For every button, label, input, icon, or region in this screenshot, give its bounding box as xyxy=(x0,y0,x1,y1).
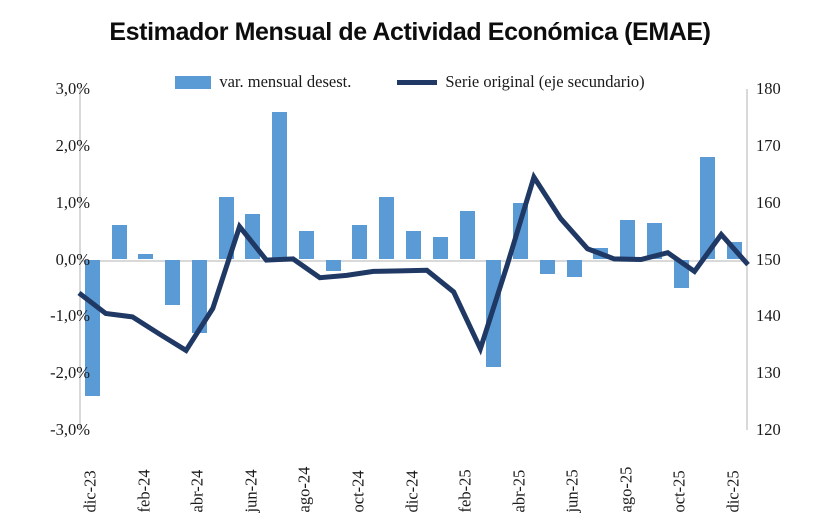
emae-chart: Estimador Mensual de Actividad Económica… xyxy=(0,0,820,524)
x-tick-ago-24: ago-24 xyxy=(297,466,314,512)
x-tick-feb-24: feb-24 xyxy=(136,469,153,512)
secondary-tick-0: 180 xyxy=(756,81,816,98)
x-tick-abr-24: abr-24 xyxy=(190,469,207,512)
primary-tick-4: -1,0% xyxy=(20,308,90,325)
line-swatch-icon xyxy=(397,80,437,85)
line-series-serie-original xyxy=(79,89,748,430)
x-tick-dic-25: dic-25 xyxy=(725,470,742,512)
primary-tick-6: -3,0% xyxy=(20,422,90,439)
secondary-tick-6: 120 xyxy=(756,422,816,439)
x-tick-dic-23: dic-23 xyxy=(83,470,100,512)
secondary-tick-4: 140 xyxy=(756,308,816,325)
x-tick-abr-25: abr-25 xyxy=(511,469,528,512)
primary-tick-3: 0,0% xyxy=(20,252,90,269)
page-title: Estimador Mensual de Actividad Económica… xyxy=(0,18,820,47)
x-tick-dic-24: dic-24 xyxy=(404,470,421,512)
plot-area xyxy=(79,89,748,430)
secondary-tick-1: 170 xyxy=(756,138,816,155)
primary-tick-5: -2,0% xyxy=(20,365,90,382)
x-tick-feb-25: feb-25 xyxy=(458,469,475,512)
primary-tick-0: 3,0% xyxy=(20,81,90,98)
x-tick-jun-25: jun-25 xyxy=(565,469,582,512)
secondary-tick-2: 160 xyxy=(756,195,816,212)
x-tick-oct-24: oct-24 xyxy=(350,470,367,512)
x-tick-jun-24: jun-24 xyxy=(243,469,260,512)
bar-swatch-icon xyxy=(175,76,211,89)
primary-tick-1: 2,0% xyxy=(20,138,90,155)
secondary-tick-3: 150 xyxy=(756,252,816,269)
x-tick-oct-25: oct-25 xyxy=(672,470,689,512)
secondary-tick-5: 130 xyxy=(756,365,816,382)
x-tick-ago-25: ago-25 xyxy=(618,466,635,512)
primary-tick-2: 1,0% xyxy=(20,195,90,212)
